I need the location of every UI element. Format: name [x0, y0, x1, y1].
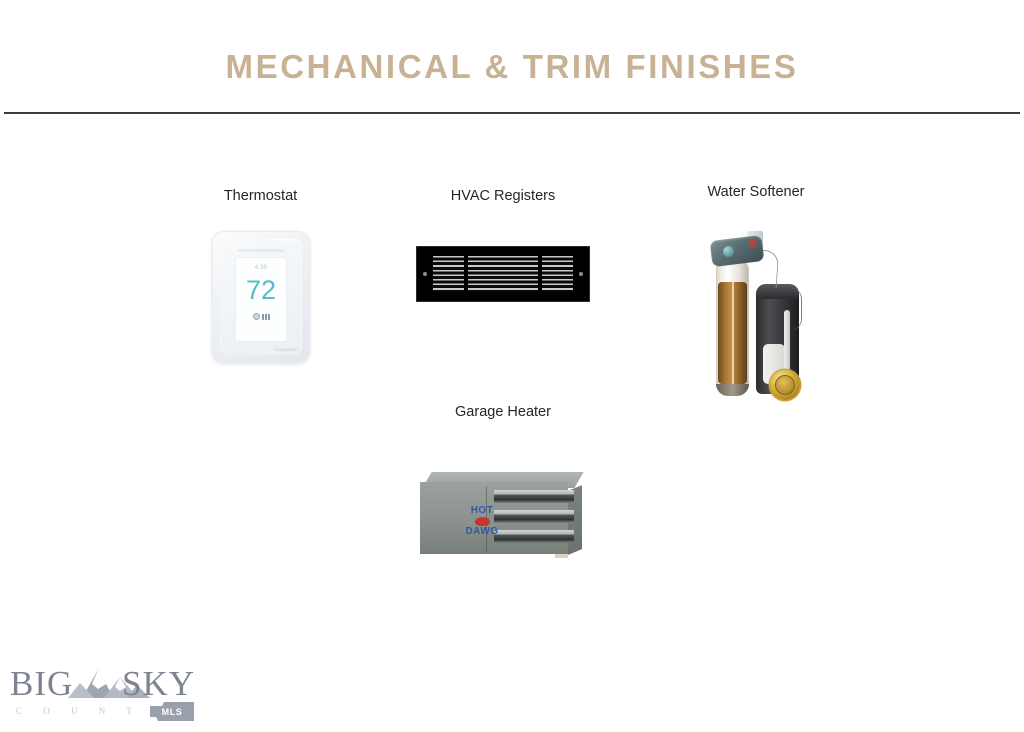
- softener-media-tank: [716, 256, 749, 396]
- slide-canvas: MECHANICAL & TRIM FINISHES Thermostat 4:…: [0, 0, 1024, 732]
- thermostat-brand-text: Honeywell: [275, 347, 298, 352]
- fan-icon: [262, 314, 270, 320]
- water-softener-photo: [705, 228, 801, 403]
- gold-seal-inner: [775, 375, 795, 395]
- register-panel: [468, 256, 538, 292]
- thermostat-vent-slot: [238, 249, 284, 252]
- heater-brand-top: HOT: [460, 506, 504, 516]
- brand-word-sky: SKY: [122, 666, 195, 702]
- softener-indicator-icon: [749, 240, 757, 248]
- thermostat-status-icons: [253, 313, 270, 320]
- register-screw-right-icon: [579, 272, 583, 276]
- register-slat-group: [433, 256, 573, 292]
- mls-badge: MLS: [148, 700, 196, 724]
- thermostat-temperature: 72: [246, 276, 276, 304]
- mls-badge-label: MLS: [148, 700, 196, 724]
- softener-hose: [791, 288, 802, 330]
- mode-dot-icon: [253, 313, 260, 320]
- register-screw-left-icon: [423, 272, 427, 276]
- gold-seal-icon: [770, 370, 800, 400]
- softener-dial-icon: [722, 245, 734, 257]
- softener-brine-well: [784, 310, 790, 372]
- hvac-register-photo: [416, 246, 590, 302]
- thermostat-housing: 4:30 72 Honeywell: [212, 231, 310, 363]
- label-hvac-registers: HVAC Registers: [415, 188, 591, 204]
- thermostat-photo: 4:30 72 Honeywell: [212, 231, 310, 363]
- heater-mounting-foot: [555, 554, 568, 558]
- heater-brand-bottom: DAWG: [460, 527, 504, 537]
- heater-brand-logo: HOT DAWG: [460, 506, 504, 537]
- softener-riser-tube: [732, 280, 734, 388]
- thermostat-time: 4:30: [255, 265, 267, 271]
- register-frame: [416, 246, 590, 302]
- thermostat-display: 4:30 72: [236, 258, 286, 341]
- label-water-softener: Water Softener: [668, 184, 844, 200]
- register-panel: [542, 256, 573, 292]
- label-garage-heater: Garage Heater: [415, 404, 591, 420]
- page-title: MECHANICAL & TRIM FINISHES: [0, 48, 1024, 86]
- heater-louver-group: [494, 490, 574, 548]
- title-divider: [4, 112, 1020, 114]
- register-panel: [433, 256, 464, 292]
- heater-louver: [494, 530, 574, 543]
- heater-louver: [494, 490, 574, 503]
- flame-icon: [475, 517, 490, 526]
- brand-logo: BIG SKY C O U N T R Y MLS: [6, 664, 202, 726]
- heater-louver: [494, 510, 574, 523]
- label-thermostat: Thermostat: [173, 188, 348, 204]
- brand-word-big: BIG: [10, 666, 73, 702]
- garage-heater-photo: HOT DAWG: [420, 470, 586, 566]
